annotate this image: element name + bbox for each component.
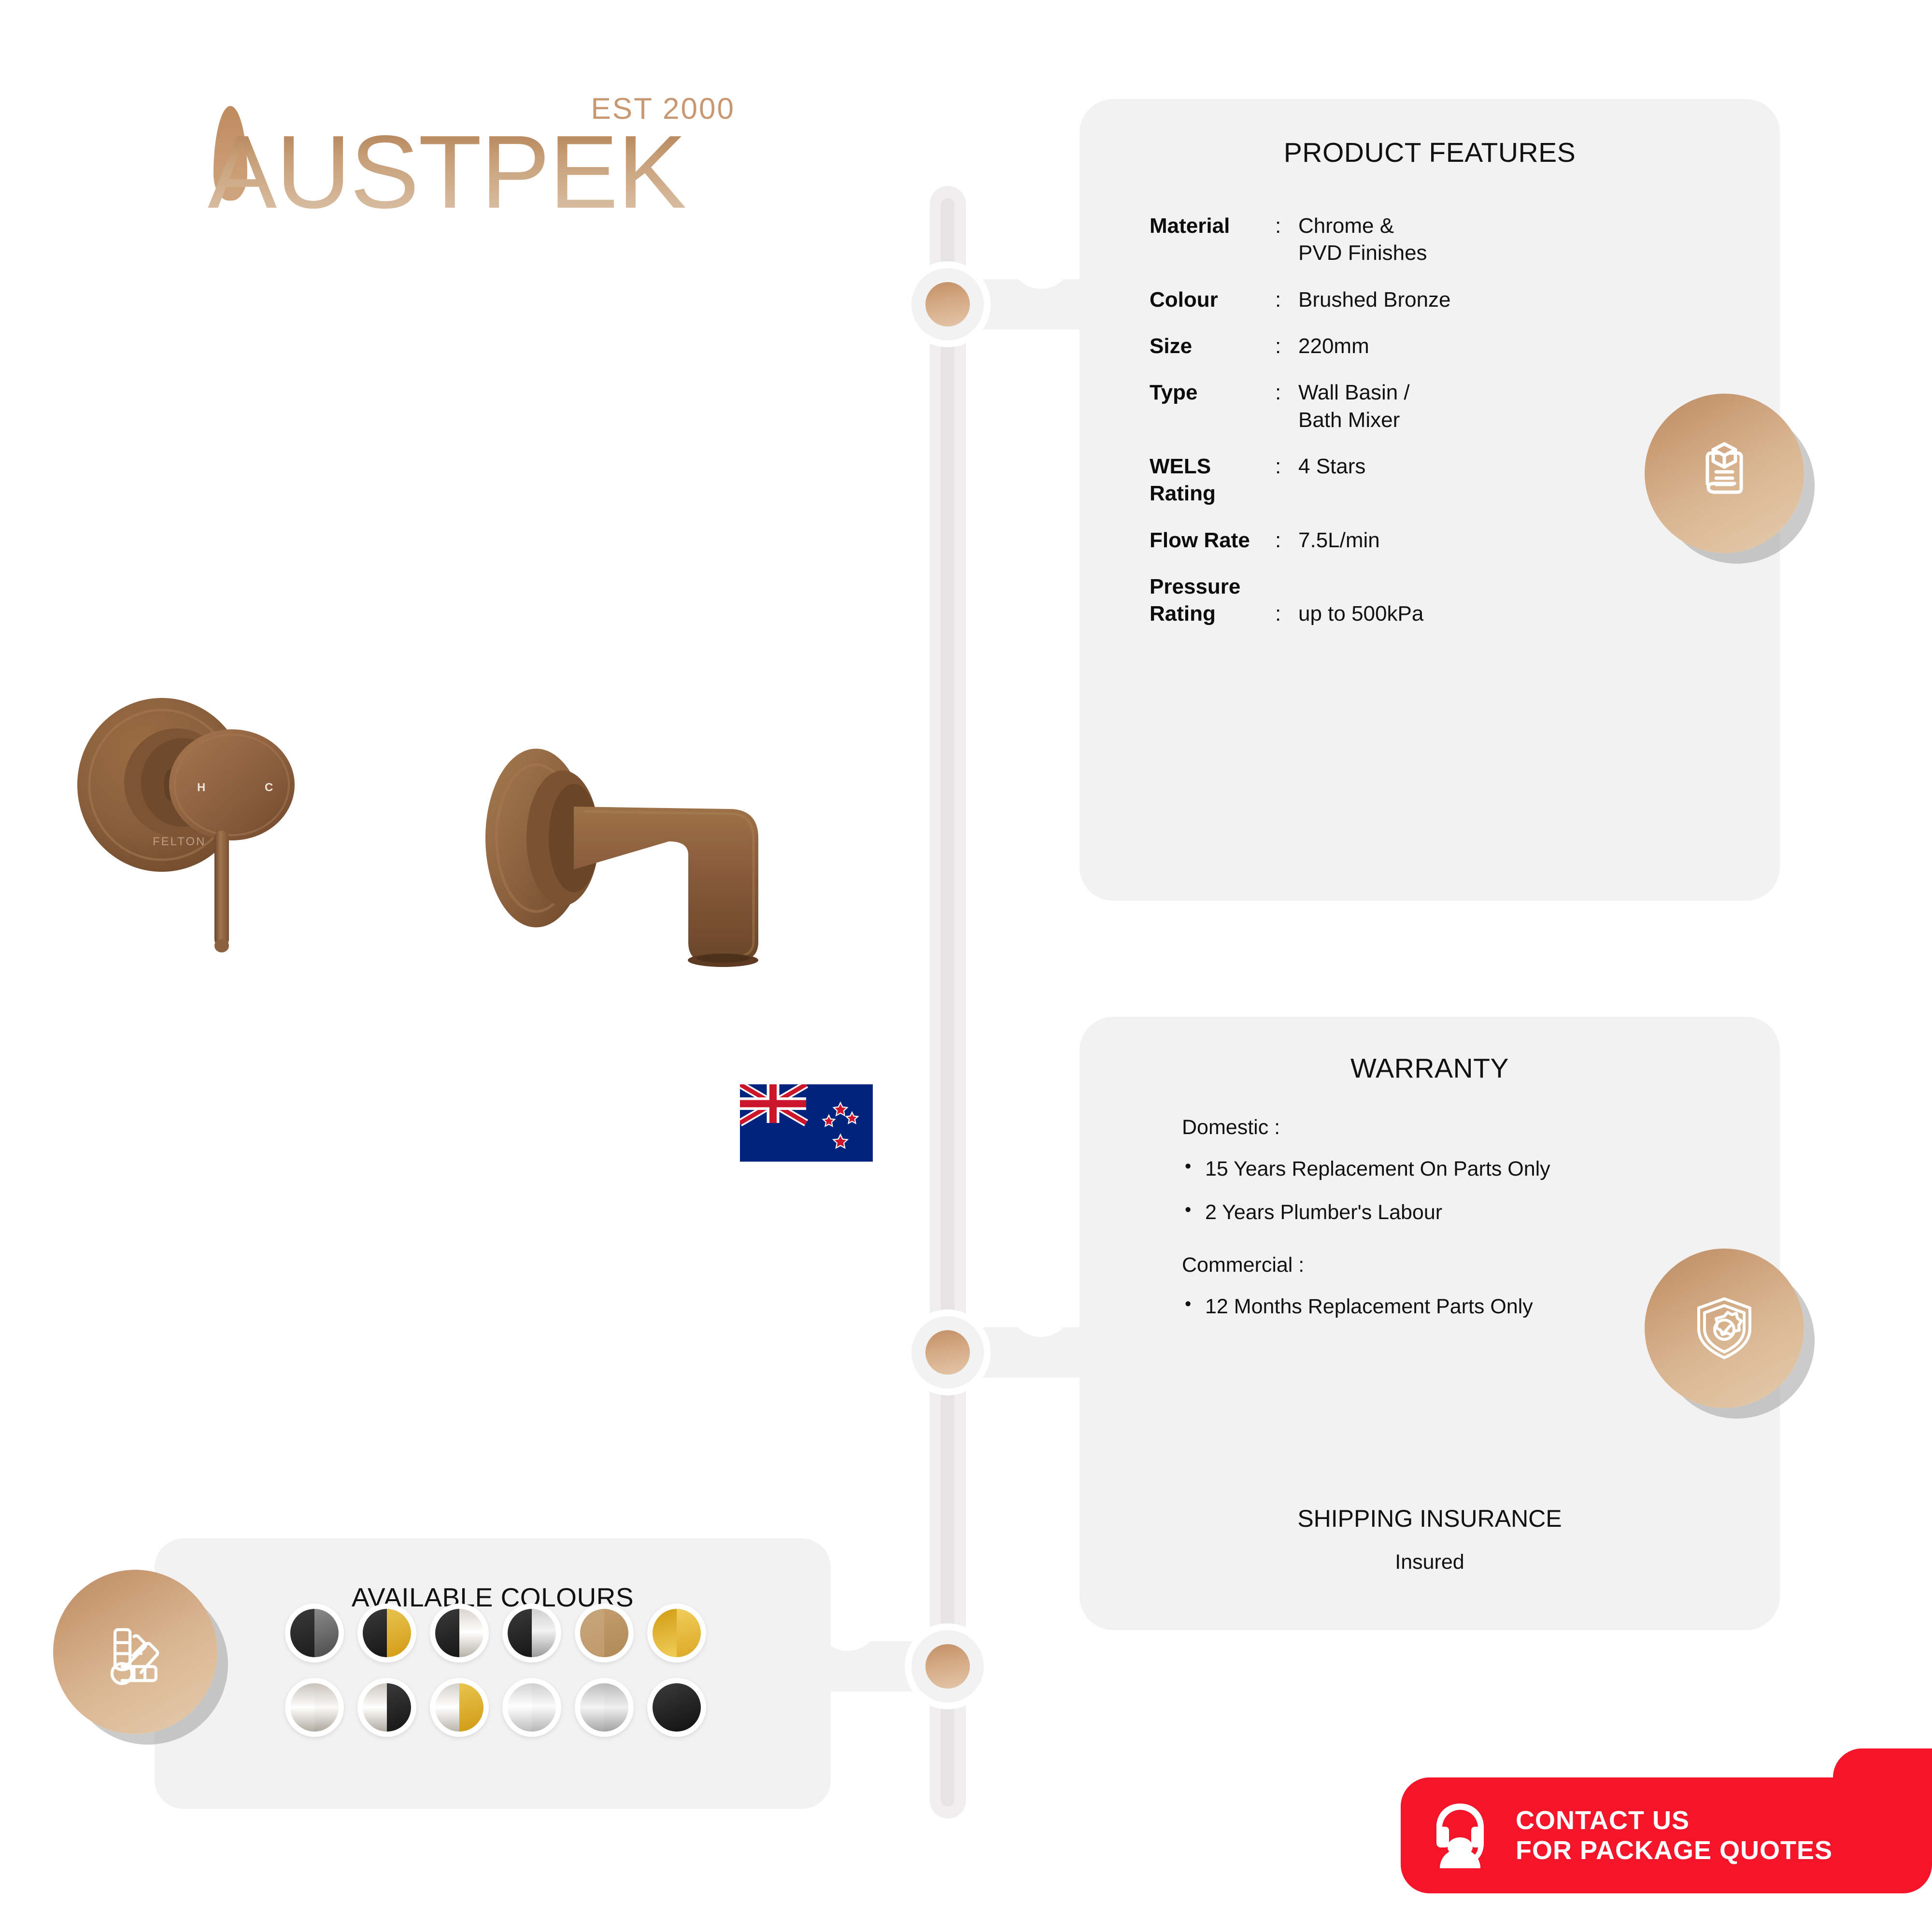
connector-track-inner xyxy=(941,198,954,1806)
feature-label: Material xyxy=(1150,213,1275,240)
feature-colon: : xyxy=(1275,286,1298,313)
page-title-warranty: WARRANTY xyxy=(1080,1052,1780,1084)
colour-swatch-gold[interactable] xyxy=(647,1604,706,1662)
feature-row: Flow Rate : 7.5L/min xyxy=(1150,527,1719,554)
warranty-domestic-heading: Domestic : xyxy=(1182,1116,1723,1139)
feature-label: Colour xyxy=(1150,286,1275,313)
shield-check-icon xyxy=(1688,1292,1761,1364)
feature-colon: : xyxy=(1275,527,1298,554)
warranty-list-item: 15 Years Replacement On Parts Only xyxy=(1182,1156,1723,1183)
feature-label: WELS Rating xyxy=(1150,453,1275,508)
connector-notch xyxy=(1009,1274,1072,1337)
feature-label: Flow Rate xyxy=(1150,527,1275,554)
feature-value: Brushed Bronze xyxy=(1298,286,1451,313)
colour-swatch-brushed-nickel[interactable] xyxy=(285,1678,344,1737)
colour-swatch-matte-black[interactable] xyxy=(285,1604,344,1662)
colour-swatch-chrome[interactable] xyxy=(502,1678,561,1737)
warranty-badge xyxy=(1645,1249,1804,1408)
warranty-list-item: 12 Months Replacement Parts Only xyxy=(1182,1293,1723,1321)
product-features-list: Material : Chrome &PVD Finishes Colour :… xyxy=(1150,213,1719,647)
feature-value: up to 500kPa xyxy=(1298,600,1423,627)
contact-us-banner[interactable]: CONTACT US FOR PACKAGE QUOTES xyxy=(1401,1777,1932,1893)
node-dot xyxy=(925,1330,970,1375)
shipping-insurance-title: SHIPPING INSURANCE xyxy=(1080,1505,1780,1533)
colour-swatch-matte-black-gold[interactable] xyxy=(357,1604,416,1662)
feature-colon: : xyxy=(1275,213,1298,240)
new-zealand-flag-icon xyxy=(740,1084,873,1162)
brand-logo: EST 2000 AUSTPEK xyxy=(208,92,749,232)
available-colours-badge xyxy=(53,1570,217,1734)
colour-swatch-matte-black-brushed[interactable] xyxy=(502,1604,561,1662)
feature-row: PressureRating : up to 500kPa xyxy=(1150,573,1719,628)
svg-text:C: C xyxy=(265,781,273,794)
contact-us-line-2: FOR PACKAGE QUOTES xyxy=(1516,1835,1833,1865)
clipboard-box-icon xyxy=(1688,437,1761,510)
contact-us-text: CONTACT US FOR PACKAGE QUOTES xyxy=(1516,1805,1833,1865)
feature-label: PressureRating xyxy=(1150,573,1275,628)
node-dot xyxy=(925,282,970,327)
svg-text:FELTON: FELTON xyxy=(153,835,206,848)
feature-row: Material : Chrome &PVD Finishes xyxy=(1150,213,1719,267)
feature-value: Wall Basin /Bath Mixer xyxy=(1298,379,1410,434)
connector-node-colours xyxy=(911,1630,984,1703)
warranty-list-item: 2 Years Plumber's Labour xyxy=(1182,1199,1723,1226)
colour-swatch-black[interactable] xyxy=(647,1678,706,1737)
connector-node-features xyxy=(911,268,984,341)
feature-colon: : xyxy=(1275,333,1298,360)
connector-node-warranty xyxy=(911,1316,984,1389)
colour-palette-icon xyxy=(98,1615,173,1690)
colour-swatch-brushed-nickel-black[interactable] xyxy=(357,1678,416,1737)
feature-value: 7.5L/min xyxy=(1298,527,1380,554)
feature-row: Colour : Brushed Bronze xyxy=(1150,286,1719,313)
feature-colon: : xyxy=(1275,379,1298,406)
feature-row: Size : 220mm xyxy=(1150,333,1719,360)
spacer xyxy=(1182,1243,1723,1253)
feature-colon: : xyxy=(1275,453,1298,480)
product-image-wall-spout xyxy=(464,710,845,995)
colour-swatch-brushed-bronze[interactable] xyxy=(575,1604,634,1662)
contact-us-line-1: CONTACT US xyxy=(1516,1805,1833,1835)
feature-colon: : xyxy=(1275,600,1298,627)
connector-notch xyxy=(1009,226,1072,289)
node-dot xyxy=(925,1644,970,1689)
headset-support-icon xyxy=(1424,1797,1496,1874)
feature-value: 4 Stars xyxy=(1298,453,1365,480)
feature-value: 220mm xyxy=(1298,333,1369,360)
warranty-commercial-heading: Commercial : xyxy=(1182,1253,1723,1277)
product-image-wall-mixer: H C FELTON xyxy=(58,686,328,1067)
feature-row: WELS Rating : 4 Stars xyxy=(1150,453,1719,508)
feature-label: Type xyxy=(1150,379,1275,406)
connector-notch xyxy=(1009,332,1072,395)
shipping-insurance-value: Insured xyxy=(1080,1550,1780,1574)
svg-text:H: H xyxy=(197,781,205,794)
logo-wordmark: AUSTPEK xyxy=(208,120,686,224)
product-features-badge xyxy=(1645,394,1804,553)
page-title-product-features: PRODUCT FEATURES xyxy=(1080,137,1780,169)
colour-swatch-brushed-chrome[interactable] xyxy=(575,1678,634,1737)
feature-value: Chrome &PVD Finishes xyxy=(1298,213,1427,267)
colour-swatch-grid[interactable] xyxy=(285,1604,706,1737)
colour-swatch-matte-black-chrome[interactable] xyxy=(430,1604,489,1662)
colour-swatch-chrome-gold[interactable] xyxy=(430,1678,489,1737)
connector-notch xyxy=(1009,1380,1072,1443)
warranty-body: Domestic : 15 Years Replacement On Parts… xyxy=(1182,1116,1723,1337)
feature-row: Type : Wall Basin /Bath Mixer xyxy=(1150,379,1719,434)
feature-label: Size xyxy=(1150,333,1275,360)
